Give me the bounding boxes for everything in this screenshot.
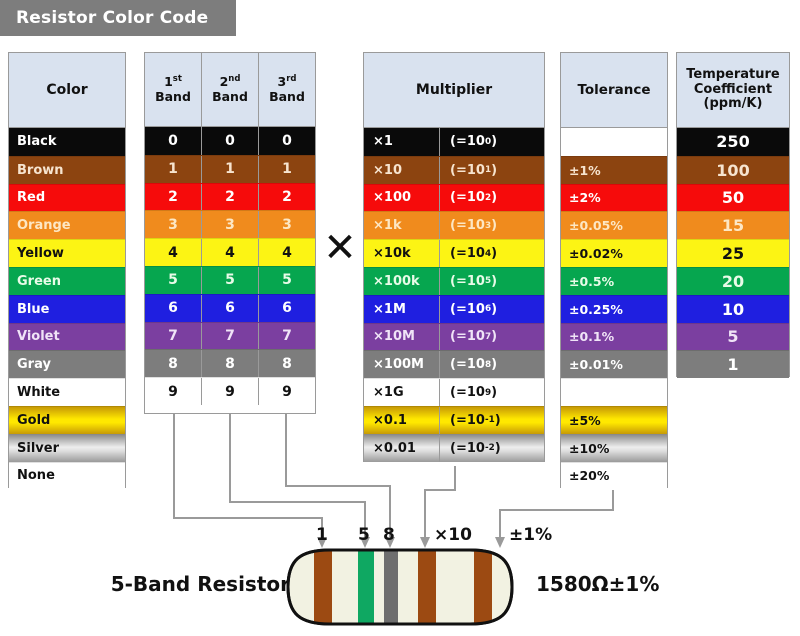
- page-title: Resistor Color Code: [16, 8, 208, 28]
- tolerance-row: ±0.1%: [561, 323, 667, 351]
- tolerance-value: ±1%: [569, 163, 601, 178]
- band-digit-cell: 7: [145, 323, 202, 350]
- multiplier-exponent: (=107): [440, 324, 544, 351]
- color-row: Orange: [9, 211, 125, 239]
- tolerance-row: ±0.05%: [561, 211, 667, 239]
- temperature-coefficient-row: 15: [677, 211, 789, 239]
- tolerance-row: ±0.5%: [561, 267, 667, 295]
- color-row: Green: [9, 267, 125, 295]
- temperature-coefficient-row: 250: [677, 128, 789, 156]
- band-2-ordinal: 2: [220, 75, 229, 90]
- band-1-header: 1stBand: [145, 53, 202, 127]
- color-row: Red: [9, 184, 125, 212]
- band-headers: 1stBand 2ndBand 3rdBand: [145, 53, 315, 127]
- band-2-green: [358, 548, 374, 626]
- multiplier-value: ×100: [364, 185, 440, 212]
- band-digit-row: 111: [145, 155, 315, 183]
- connector-band2: [230, 414, 365, 538]
- color-row: Brown: [9, 156, 125, 184]
- tolerance-row: ±0.25%: [561, 295, 667, 323]
- temperature-coefficient-value: 15: [722, 216, 744, 235]
- band-digit-cell: 4: [202, 239, 259, 266]
- band-digit-cell: 6: [259, 295, 315, 322]
- multiplier-row: ×10M(=107): [364, 323, 544, 351]
- color-row: Blue: [9, 295, 125, 323]
- band-digit-row: 666: [145, 294, 315, 322]
- temperature-coefficient-row: 100: [677, 156, 789, 184]
- band-1-brown: [314, 548, 332, 626]
- tolerance-row: ±0.02%: [561, 239, 667, 267]
- band-3-suffix: rd: [286, 74, 296, 84]
- multiplier-row: ×10k(=104): [364, 239, 544, 267]
- band-digit-cell: 4: [259, 239, 315, 266]
- tolerance-row: ±2%: [561, 184, 667, 212]
- temperature-coefficient-row: 10: [677, 295, 789, 323]
- band-digit-row: 444: [145, 238, 315, 266]
- band-digit-cell: 5: [259, 267, 315, 294]
- tolerance-value: ±0.02%: [569, 246, 623, 261]
- band-digit-cell: 5: [202, 267, 259, 294]
- temperature-coefficient-value: 25: [722, 244, 744, 263]
- band-digit-cell: 1: [202, 156, 259, 183]
- multiplier-column-header: Multiplier: [364, 53, 544, 128]
- band-digit-row: 000: [145, 127, 315, 155]
- tolerance-column-header: Tolerance: [561, 53, 667, 128]
- temperature-coefficient-value: 250: [716, 132, 749, 151]
- band-digit-cell: 3: [202, 211, 259, 238]
- band-2-word: Band: [212, 89, 248, 104]
- multiplier-exponent: (=104): [440, 240, 544, 267]
- color-row: Violet: [9, 323, 125, 351]
- band-2-suffix: nd: [228, 74, 240, 84]
- multiplier-row: ×1(=100): [364, 128, 544, 156]
- band-digit-cell: 1: [145, 156, 202, 183]
- band-4-brown: [418, 548, 436, 626]
- multiplier-value: ×10k: [364, 240, 440, 267]
- multiplier-value: ×10: [364, 157, 440, 184]
- temperature-coefficient-value: 5: [727, 327, 738, 346]
- temperature-coefficient-row: 20: [677, 267, 789, 295]
- tempcoef-header-line3: (ppm/K): [704, 96, 763, 111]
- connector-tolerance: [500, 490, 613, 538]
- temperature-coefficient-value: 20: [722, 272, 744, 291]
- temperature-coefficient-value: 100: [716, 161, 749, 180]
- color-name: Yellow: [17, 246, 64, 261]
- band-digit-row: 777: [145, 322, 315, 350]
- band-rows: 000111222333444555666777888999: [145, 127, 315, 405]
- band-digit-row: 333: [145, 210, 315, 238]
- color-column-header: Color: [9, 53, 125, 128]
- band-digit-cell: 4: [145, 239, 202, 266]
- temperature-coefficient-value: 50: [722, 188, 744, 207]
- color-name: Orange: [17, 218, 71, 233]
- band-digit-cell: 2: [259, 184, 315, 211]
- multiplier-value: ×1M: [364, 296, 440, 323]
- tempcoef-header-line2: Coefficient: [694, 82, 772, 97]
- temperature-coefficient-row: 50: [677, 184, 789, 212]
- band-3-gray: [384, 548, 398, 626]
- multiplier-row: ×1k(=103): [364, 211, 544, 239]
- multiplier-exponent: (=100): [440, 128, 544, 156]
- tolerance-value: ±0.1%: [569, 329, 614, 344]
- band-digit-cell: 5: [145, 267, 202, 294]
- multiplier-row: ×100k(=105): [364, 267, 544, 295]
- connector-band3: [286, 414, 390, 538]
- tolerance-row: [561, 128, 667, 156]
- color-name: Blue: [17, 302, 49, 317]
- band-digit-row: 222: [145, 183, 315, 211]
- resistor-diagram: [0, 538, 800, 636]
- tolerance-row: ±1%: [561, 156, 667, 184]
- tempcoef-header-line1: Temperature: [686, 67, 780, 82]
- color-name: Black: [17, 134, 57, 149]
- tolerance-value: ±0.5%: [569, 274, 614, 289]
- multiplier-exponent: (=105): [440, 268, 544, 295]
- color-name: Green: [17, 274, 61, 289]
- multiplier-value: ×1: [364, 128, 440, 156]
- color-row: Yellow: [9, 239, 125, 267]
- color-name: Red: [17, 190, 45, 205]
- multiplier-exponent: (=106): [440, 296, 544, 323]
- connector-band1: [174, 414, 322, 538]
- band-digit-cell: 6: [145, 295, 202, 322]
- multiplier-value: ×1k: [364, 212, 440, 239]
- page-title-bar: Resistor Color Code: [0, 0, 236, 36]
- temperature-coefficient-rows: 250100501525201051: [677, 128, 789, 378]
- band-1-suffix: st: [173, 74, 182, 84]
- band-3-header: 3rdBand: [259, 53, 315, 127]
- band-digit-cell: 0: [202, 127, 259, 155]
- band-digit-cell: 3: [145, 211, 202, 238]
- band-digit-row: 555: [145, 266, 315, 294]
- band-digit-cell: 2: [145, 184, 202, 211]
- temperature-coefficient-row: 5: [677, 323, 789, 351]
- color-row: Black: [9, 128, 125, 156]
- color-name: Violet: [17, 329, 60, 344]
- color-name: Brown: [17, 163, 64, 178]
- band-digit-cell: 1: [259, 156, 315, 183]
- connector-multiplier: [425, 466, 455, 538]
- digit-bands-table: 1stBand 2ndBand 3rdBand 0001112223334445…: [144, 52, 316, 414]
- band-1-word: Band: [155, 89, 191, 104]
- band-2-header: 2ndBand: [202, 53, 259, 127]
- band-digit-cell: 7: [259, 323, 315, 350]
- band-digit-cell: 0: [259, 127, 315, 155]
- multiplier-value: ×10M: [364, 324, 440, 351]
- temperature-coefficient-column-header: Temperature Coefficient (ppm/K): [677, 53, 789, 128]
- multiplier-row: ×10(=101): [364, 156, 544, 184]
- multiply-icon: ✕: [318, 226, 362, 270]
- multiplier-row: ×100(=102): [364, 184, 544, 212]
- temperature-coefficient-row: 25: [677, 239, 789, 267]
- band-3-word: Band: [269, 89, 305, 104]
- multiplier-value: ×100k: [364, 268, 440, 295]
- multiplier-row: ×1M(=106): [364, 295, 544, 323]
- band-1-ordinal: 1: [164, 75, 173, 90]
- band-5-brown-tolerance: [474, 548, 492, 626]
- tolerance-value: ±0.25%: [569, 302, 623, 317]
- band-digit-cell: 0: [145, 127, 202, 155]
- band-digit-cell: 2: [202, 184, 259, 211]
- tolerance-value: ±2%: [569, 190, 601, 205]
- multiplier-exponent: (=103): [440, 212, 544, 239]
- multiplier-exponent: (=101): [440, 157, 544, 184]
- temperature-coefficient-column-table: Temperature Coefficient (ppm/K) 25010050…: [676, 52, 790, 377]
- band-digit-cell: 6: [202, 295, 259, 322]
- band-3-ordinal: 3: [278, 75, 287, 90]
- band-digit-cell: 7: [202, 323, 259, 350]
- band-digit-cell: 3: [259, 211, 315, 238]
- temperature-coefficient-value: 10: [722, 300, 744, 319]
- multiplier-exponent: (=102): [440, 185, 544, 212]
- tolerance-value: ±0.05%: [569, 218, 623, 233]
